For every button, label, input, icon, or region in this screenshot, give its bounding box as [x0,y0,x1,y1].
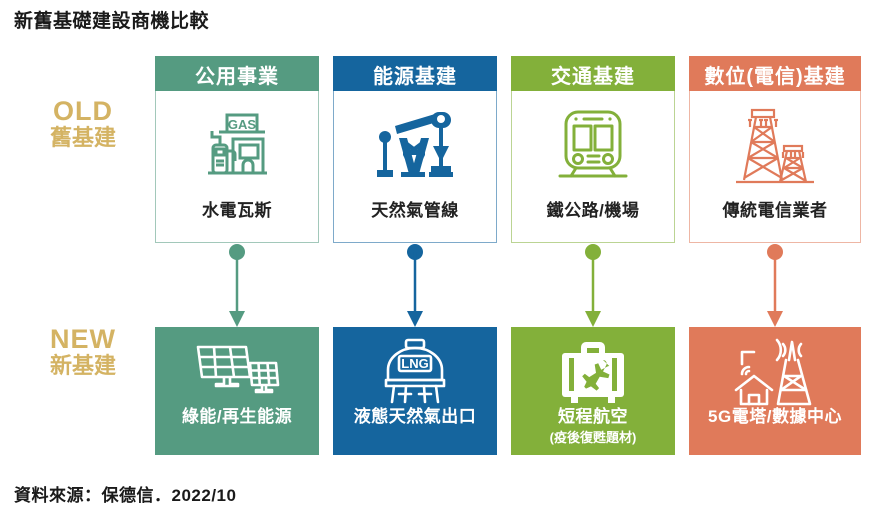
new-label-energy: 液態天然氣出口 [354,407,477,427]
new-label-transport: 短程航空 [558,407,628,427]
column-header-utilities[interactable]: 公用事業 [155,56,319,92]
row-label-new: NEW 新基建 [8,324,158,379]
row-label-old-zh: 舊基建 [8,126,158,151]
old-label-digital: 傳統電信業者 [723,196,828,221]
telecom-tower-icon [690,91,860,196]
column-header-energy-label: 能源基建 [373,60,457,89]
gas-sign-text: GAS [228,117,257,132]
train-icon [512,91,674,196]
new-card-transport[interactable]: 短程航空 (疫後復甦題材) [511,327,675,455]
solar-panel-icon [155,335,319,407]
column-header-transport-label: 交通基建 [551,60,635,89]
row-label-old: OLD 舊基建 [8,96,158,151]
lng-tank-icon: LNG [333,335,497,407]
column-header-digital-label: 數位(電信)基建 [704,60,845,89]
column-header-utilities-label: 公用事業 [195,60,279,89]
row-label-new-zh: 新基建 [8,354,158,379]
old-label-energy: 天然氣管線 [371,196,459,221]
cell-tower-house-icon [689,335,861,407]
column-header-energy[interactable]: 能源基建 [333,56,497,92]
gas-station-icon: GAS [156,91,318,196]
old-card-transport[interactable]: 鐵公路/機場 [511,91,675,243]
new-card-energy[interactable]: LNG 液態天然氣出口 [333,327,497,455]
new-label-utilities: 綠能/再生能源 [182,407,292,427]
old-card-energy[interactable]: 天然氣管線 [333,91,497,243]
lng-tank-text: LNG [401,356,428,371]
page-title: 新舊基礎建設商機比較 [14,6,209,33]
column-header-digital[interactable]: 數位(電信)基建 [689,56,861,92]
new-sublabel-transport: (疫後復甦題材) [550,427,637,446]
old-card-digital[interactable]: 傳統電信業者 [689,91,861,243]
new-card-utilities[interactable]: 綠能/再生能源 [155,327,319,455]
old-label-utilities: 水電瓦斯 [202,196,272,221]
source-note: 資料來源：保德信．2022/10 [14,481,236,506]
oil-pumpjack-icon [334,91,496,196]
column-header-transport[interactable]: 交通基建 [511,56,675,92]
suitcase-plane-icon [511,335,675,407]
old-label-transport: 鐵公路/機場 [547,196,640,221]
row-label-new-en: NEW [8,324,158,354]
row-label-old-en: OLD [8,96,158,126]
new-card-digital[interactable]: 5G電塔/數據中心 [689,327,861,455]
connector-arrow-energy [403,243,427,329]
connector-arrow-transport [581,243,605,329]
new-label-digital: 5G電塔/數據中心 [708,407,842,427]
connector-arrow-utilities [225,243,249,329]
connector-arrow-digital [763,243,787,329]
old-card-utilities[interactable]: GAS 水電瓦斯 [155,91,319,243]
